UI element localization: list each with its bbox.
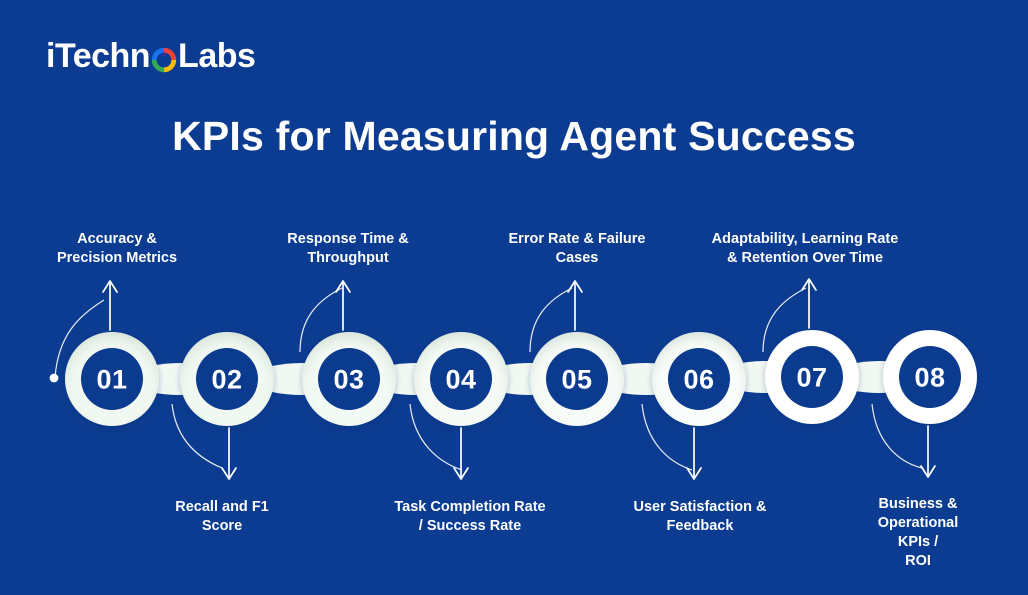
step-circle-06[interactable]: [652, 332, 746, 426]
step-circle-05[interactable]: [530, 332, 624, 426]
arrow-up-05: [568, 281, 582, 330]
arrow-up-03: [336, 281, 350, 330]
arrow-down-04: [454, 428, 468, 479]
step-label-02: Recall and F1 Score: [175, 498, 268, 536]
infographic-canvas: iTechn Labs KPIs for Measuring Agent Suc…: [0, 0, 1028, 595]
arrows-down: [222, 426, 935, 479]
step-circle-01[interactable]: [65, 332, 159, 426]
step-label-06: User Satisfaction & Feedback: [634, 498, 767, 536]
arrow-up-01: [103, 281, 117, 330]
arrow-down-02: [222, 428, 236, 479]
arrow-down-06: [687, 428, 701, 479]
arrow-up-07: [802, 279, 816, 328]
step-label-01: Accuracy & Precision Metrics: [57, 230, 177, 268]
step-circle-07[interactable]: [765, 330, 859, 424]
chain-start-dot: [50, 374, 59, 383]
step-circle-04[interactable]: [414, 332, 508, 426]
arrow-down-08: [921, 426, 935, 477]
step-label-05: Error Rate & Failure Cases: [509, 230, 646, 268]
step-circle-03[interactable]: [302, 332, 396, 426]
step-circle-02[interactable]: [180, 332, 274, 426]
step-circle-08[interactable]: [883, 330, 977, 424]
arrows-up: [103, 279, 816, 330]
step-label-07: Adaptability, Learning Rate & Retention …: [712, 230, 899, 268]
step-label-08: Business & Operational KPIs / ROI: [863, 495, 973, 572]
step-label-04: Task Completion Rate / Success Rate: [394, 498, 545, 536]
step-label-03: Response Time & Throughput: [287, 230, 408, 268]
